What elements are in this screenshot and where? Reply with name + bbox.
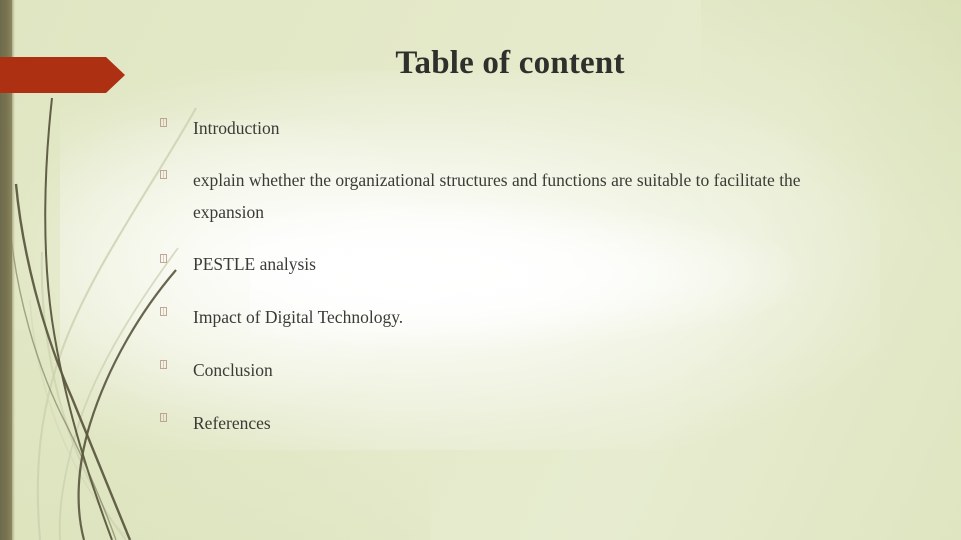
table-of-contents-list: Introduction explain whether the organiz… xyxy=(160,112,860,460)
list-item-label: Impact of Digital Technology. xyxy=(193,301,860,333)
red-arrow-banner xyxy=(0,57,125,93)
bullet-box-icon xyxy=(160,307,167,316)
list-item-label: References xyxy=(193,407,860,439)
list-item[interactable]: Impact of Digital Technology. xyxy=(160,301,860,333)
list-item[interactable]: References xyxy=(160,407,860,439)
list-item[interactable]: Conclusion xyxy=(160,354,860,386)
list-item-label: PESTLE analysis xyxy=(193,248,860,280)
bullet-box-icon xyxy=(160,170,167,179)
bullet-box-icon xyxy=(160,413,167,422)
list-item-label: explain whether the organizational struc… xyxy=(193,164,860,228)
presentation-slide: Table of content Introduction explain wh… xyxy=(0,0,961,540)
page-title: Table of content xyxy=(160,43,860,83)
list-item[interactable]: PESTLE analysis xyxy=(160,248,860,280)
list-item[interactable]: explain whether the organizational struc… xyxy=(160,164,860,228)
bullet-box-icon xyxy=(160,254,167,263)
bullet-box-icon xyxy=(160,118,167,127)
list-item-label: Conclusion xyxy=(193,354,860,386)
list-item[interactable]: Introduction xyxy=(160,112,860,144)
list-item-label: Introduction xyxy=(193,112,860,144)
bullet-box-icon xyxy=(160,360,167,369)
